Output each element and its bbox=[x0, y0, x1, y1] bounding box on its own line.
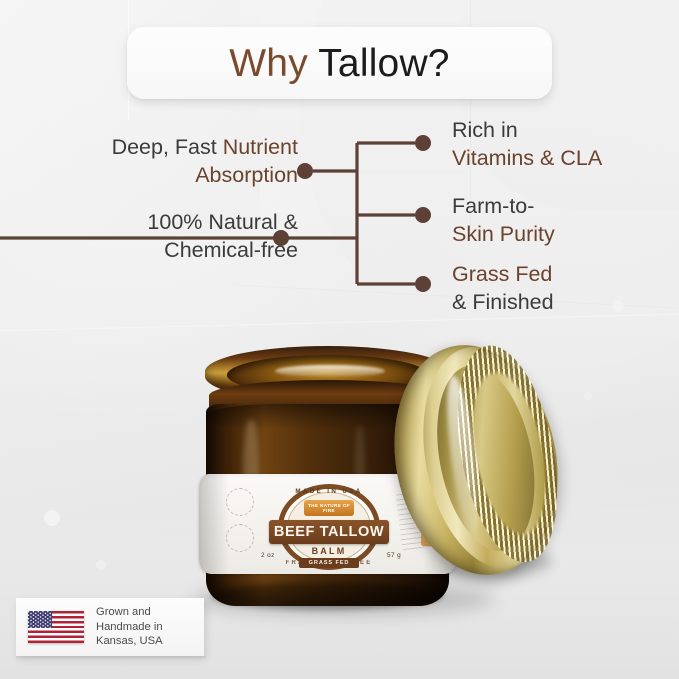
badge-shadow bbox=[16, 656, 206, 660]
emblem-grass-fed-badge: GRASS FED bbox=[299, 558, 359, 568]
flag-stars bbox=[28, 611, 52, 628]
label-curve-left bbox=[199, 474, 229, 574]
badge-line-1: Grown and bbox=[96, 605, 163, 620]
badge-line-2: Handmade in bbox=[96, 620, 163, 635]
label-seal-icon bbox=[226, 488, 254, 516]
flag-canton bbox=[28, 611, 52, 628]
label-seal-icon bbox=[226, 524, 254, 552]
jar-base-shading bbox=[211, 582, 443, 610]
emblem-brand-badge: THE NATURE OF FIRE bbox=[304, 500, 354, 516]
us-flag-icon bbox=[28, 611, 84, 643]
emblem-product-type: BALM bbox=[278, 546, 380, 556]
emblem-grass-fed-text: GRASS FED bbox=[299, 558, 359, 568]
dot-left-natural bbox=[273, 230, 289, 246]
dot-right-farm bbox=[415, 207, 431, 223]
label-net-weight-oz: 2 oz bbox=[261, 552, 275, 559]
infographic-canvas: Why Tallow? Deep, Fast Nutrient Absorpti… bbox=[0, 0, 679, 679]
dot-right-vitamins bbox=[415, 135, 431, 151]
emblem-ribbon: BEEF TALLOW bbox=[269, 520, 389, 544]
dot-left-nutrient bbox=[297, 163, 313, 179]
badge-text: Grown and Handmade in Kansas, USA bbox=[96, 605, 163, 649]
label-net-weight-g: 57 g bbox=[387, 552, 401, 559]
emblem-brand-sub: THE NATURE OF FIRE bbox=[304, 503, 354, 513]
dot-right-grassfed bbox=[415, 276, 431, 292]
jar-mouth-highlight bbox=[275, 365, 385, 377]
made-in-usa-badge: Grown and Handmade in Kansas, USA bbox=[16, 598, 204, 656]
product-image: MADE IN USA THE NATURE OF FIRE BEEF TALL… bbox=[150, 330, 570, 620]
label-emblem: MADE IN USA THE NATURE OF FIRE BEEF TALL… bbox=[278, 484, 380, 570]
emblem-product-name: BEEF TALLOW bbox=[269, 524, 389, 540]
badge-line-3: Kansas, USA bbox=[96, 634, 163, 649]
emblem-made-in-usa: MADE IN USA bbox=[278, 488, 380, 495]
